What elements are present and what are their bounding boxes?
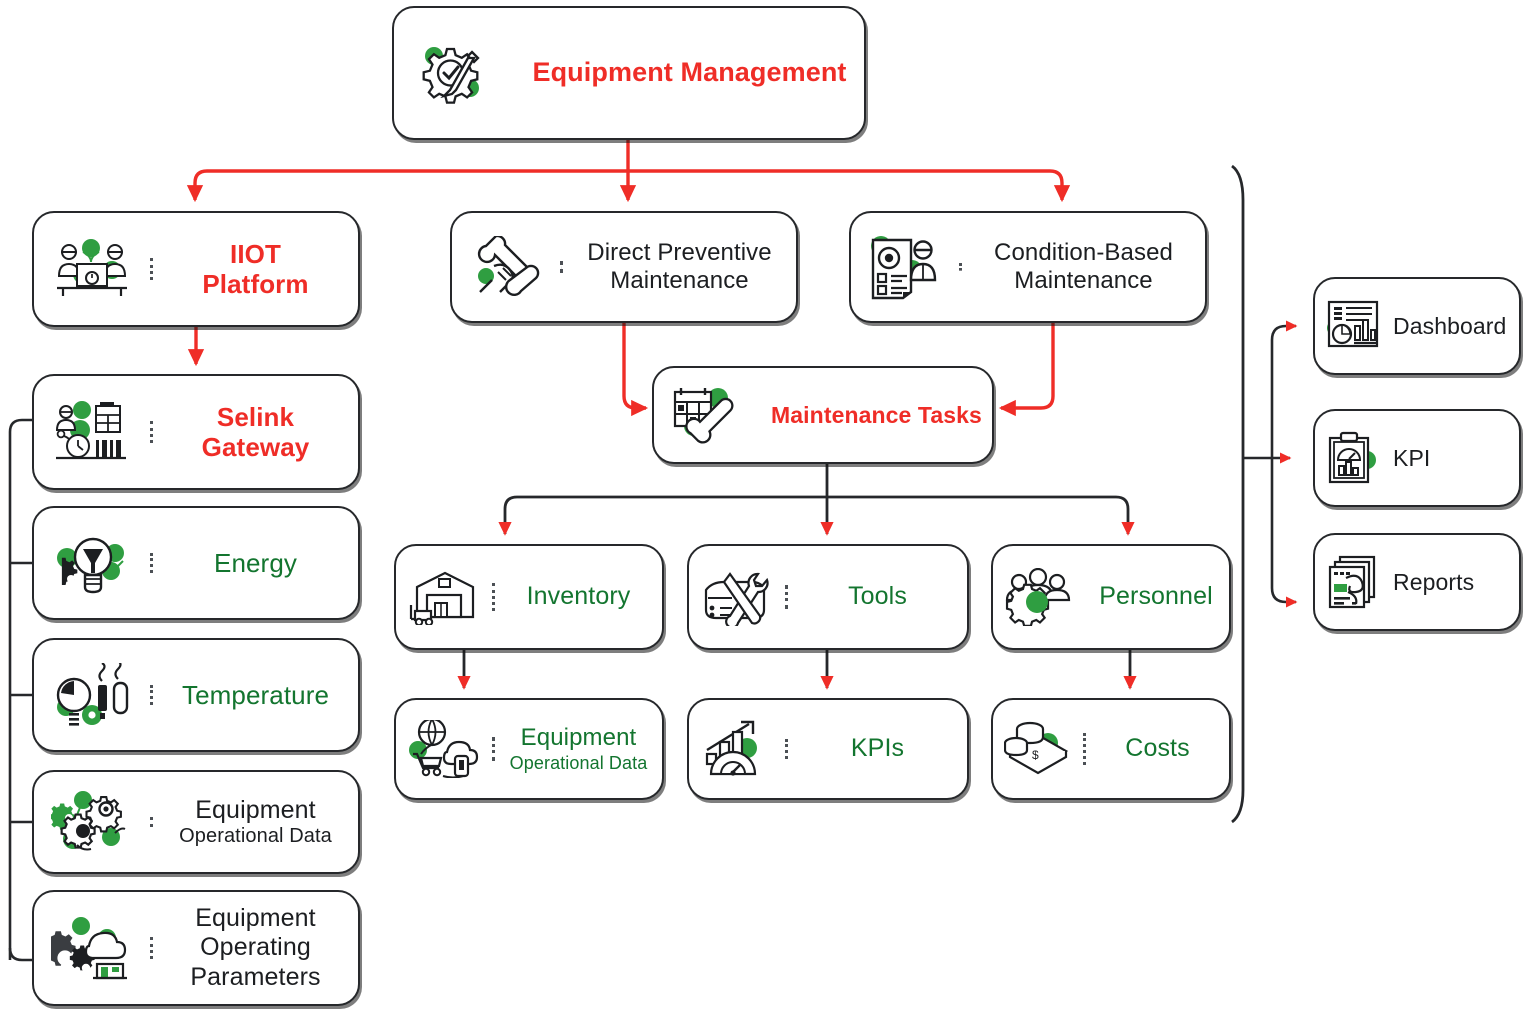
node-costs[interactable]: $ Costs bbox=[991, 698, 1231, 800]
node-temperature[interactable]: Temperature bbox=[32, 638, 360, 752]
gear-wrench-check-icon bbox=[394, 40, 512, 106]
node-reports[interactable]: Reports bbox=[1313, 533, 1521, 631]
node-label: Costs bbox=[1086, 734, 1229, 763]
node-energy[interactable]: Energy bbox=[32, 506, 360, 620]
clipboard-kpi-icon bbox=[1315, 430, 1391, 486]
node-label: Maintenance Tasks bbox=[761, 402, 992, 429]
node-personnel[interactable]: Personnel bbox=[991, 544, 1231, 650]
node-label: Inventory bbox=[495, 582, 662, 611]
gears-factory-icon bbox=[34, 916, 150, 980]
node-label: Condition-Based Maintenance bbox=[962, 239, 1205, 295]
node-label: IIOT Platform bbox=[153, 239, 358, 300]
node-equipment-operational-data-left[interactable]: Equipment Operational Data bbox=[32, 770, 360, 874]
node-label: Reports bbox=[1391, 569, 1519, 596]
node-tools[interactable]: Tools bbox=[687, 544, 969, 650]
gears-data-icon bbox=[34, 791, 150, 853]
coins-money-icon: $ bbox=[993, 721, 1083, 777]
node-label: Selink Gateway bbox=[153, 402, 358, 463]
node-label: Equipment Management bbox=[515, 57, 864, 89]
node-label: KPI bbox=[1391, 445, 1519, 472]
diagram-canvas: Equipment Management bbox=[0, 0, 1536, 1024]
people-gear-icon bbox=[993, 568, 1083, 626]
iiot-operators-icon bbox=[34, 236, 150, 302]
node-label: Tools bbox=[788, 582, 967, 611]
svg-text:$: $ bbox=[1032, 748, 1039, 762]
node-condition-based-maintenance[interactable]: Condition-Based Maintenance bbox=[849, 211, 1207, 323]
node-equipment-operational-data-mid[interactable]: Equipment Operational Data bbox=[394, 698, 664, 800]
node-label: Equipment Operating Parameters bbox=[153, 904, 358, 992]
clipboard-inspector-icon bbox=[851, 234, 959, 300]
node-selink-gateway[interactable]: Selink Gateway bbox=[32, 374, 360, 490]
globe-cart-cloud-icon bbox=[396, 720, 492, 778]
node-kpi[interactable]: KPI bbox=[1313, 409, 1521, 507]
node-iiot-platform[interactable]: IIOT Platform bbox=[32, 211, 360, 327]
hand-wrench-icon bbox=[452, 236, 560, 298]
node-label: Temperature bbox=[153, 680, 358, 710]
warehouse-forklift-icon bbox=[396, 569, 492, 625]
documents-report-icon bbox=[1315, 554, 1391, 610]
node-equipment-management[interactable]: Equipment Management bbox=[392, 6, 866, 140]
node-dashboard[interactable]: Dashboard bbox=[1313, 277, 1521, 375]
crossed-tools-icon bbox=[689, 568, 785, 626]
node-maintenance-tasks[interactable]: Maintenance Tasks bbox=[652, 366, 994, 464]
node-label: Equipment Operational Data bbox=[495, 724, 662, 773]
node-kpis[interactable]: KPIs bbox=[687, 698, 969, 800]
node-equipment-operating-parameters[interactable]: Equipment Operating Parameters bbox=[32, 890, 360, 1006]
lightbulb-gear-icon bbox=[34, 531, 150, 595]
gateway-sensors-icon bbox=[34, 400, 150, 464]
node-label: Equipment Operational Data bbox=[153, 796, 358, 849]
node-inventory[interactable]: Inventory bbox=[394, 544, 664, 650]
node-label: Direct Preventive Maintenance bbox=[563, 239, 796, 295]
node-label: Dashboard bbox=[1391, 313, 1519, 340]
bar-chart-arrow-gauge-icon bbox=[689, 720, 785, 778]
thermometer-gauge-icon bbox=[34, 663, 150, 727]
calendar-wrench-icon bbox=[654, 384, 758, 446]
node-label: KPIs bbox=[788, 734, 967, 763]
dashboard-report-icon bbox=[1315, 298, 1391, 354]
node-label: Personnel bbox=[1083, 582, 1229, 611]
node-direct-preventive-maintenance[interactable]: Direct Preventive Maintenance bbox=[450, 211, 798, 323]
node-label: Energy bbox=[153, 548, 358, 578]
